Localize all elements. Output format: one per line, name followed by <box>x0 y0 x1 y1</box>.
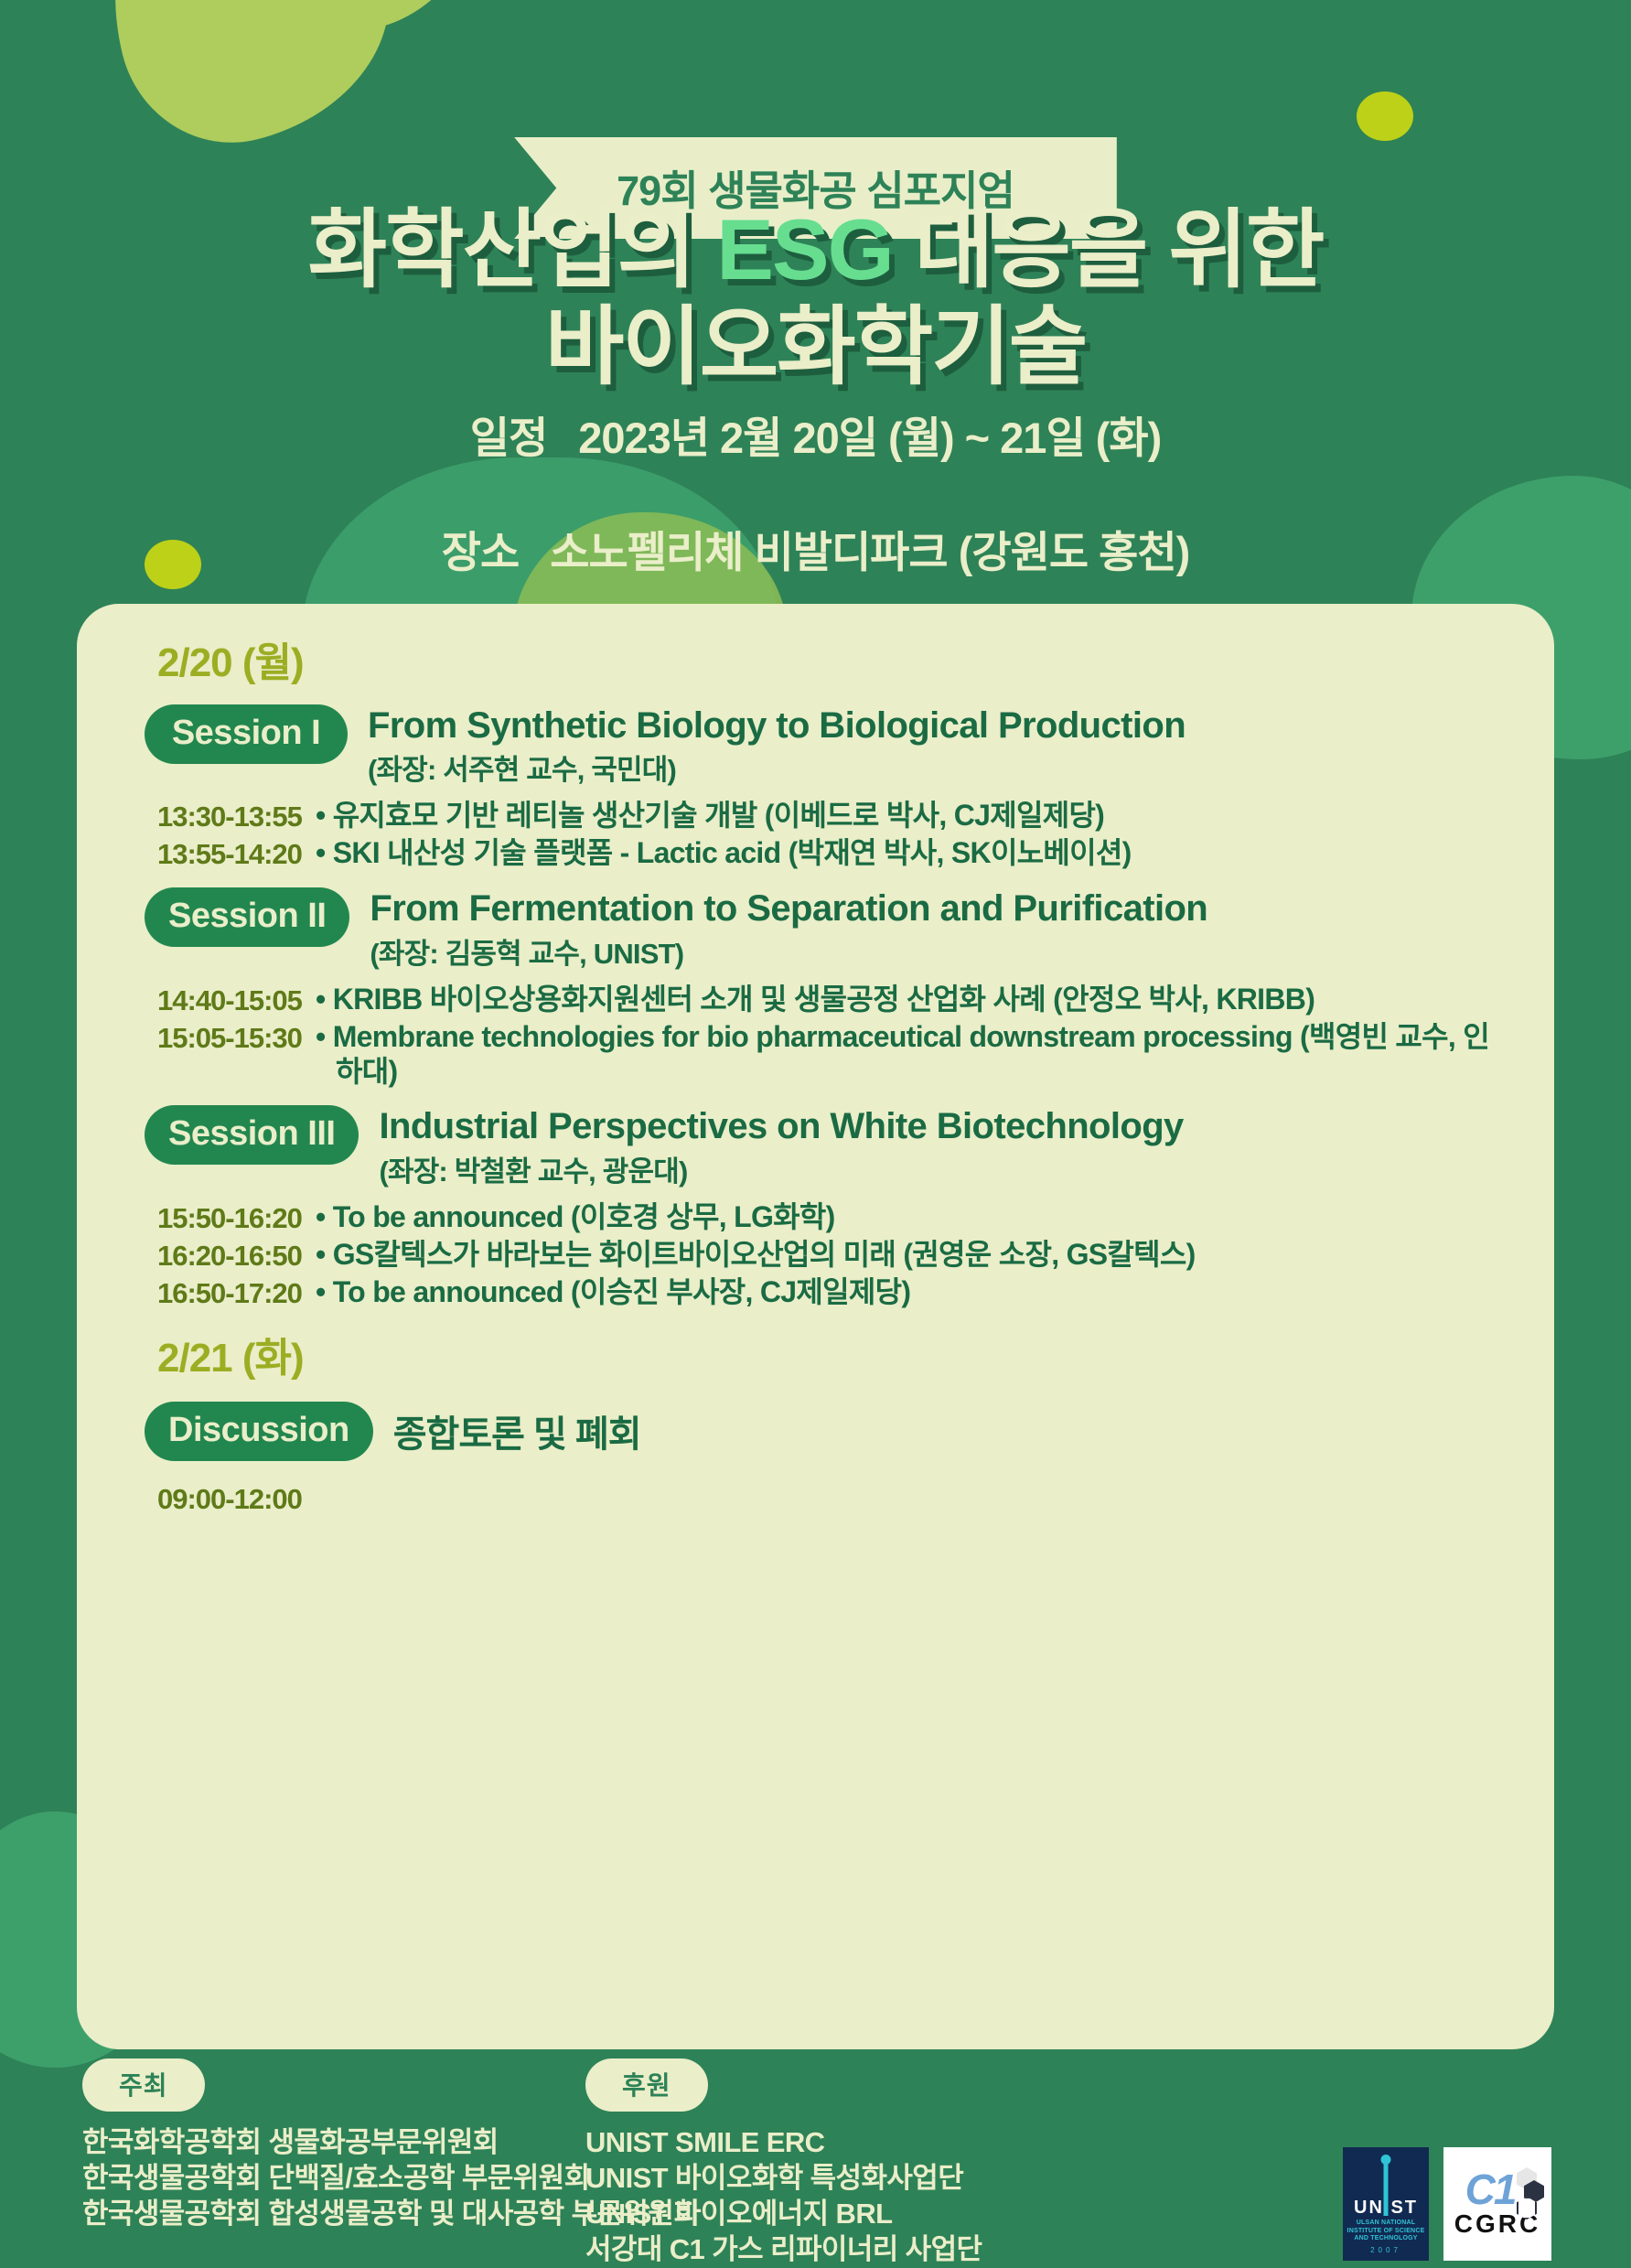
event-venue-row: 장소소노펠리체 비발디파크 (강원도 홍천) <box>0 517 1631 580</box>
title-line-1-pre: 화학산업의 <box>308 201 717 297</box>
talk-time: 15:05-15:30 <box>119 1020 316 1055</box>
session-talks-2: 14:40-15:05 • KRIBB 바이오상용화지원센터 소개 및 생물공정… <box>119 983 1512 1090</box>
talk-row: 13:30-13:55 • 유지효모 기반 레티놀 생산기술 개발 (이베드로 … <box>119 799 1512 833</box>
session-titles-1: From Synthetic Biology to Biological Pro… <box>368 704 1186 788</box>
session-block-1: Session I From Synthetic Biology to Biol… <box>119 704 1512 788</box>
day-heading-2: 2/21 (화) <box>157 1325 1512 1383</box>
session-talks-3: 15:50-16:20 • To be announced (이호경 상무, L… <box>119 1200 1512 1310</box>
session-title-1: From Synthetic Biology to Biological Pro… <box>368 706 1186 745</box>
session-chair-1: (좌장: 서주현 교수, 국민대) <box>368 747 1186 788</box>
c1-mark: C1 <box>1465 2171 1516 2209</box>
talk-row: 15:05-15:30 • Membrane technologies for … <box>119 1020 1512 1090</box>
talk-row: 15:50-16:20 • To be announced (이호경 상무, L… <box>119 1200 1512 1235</box>
event-date-row: 일정2023년 2월 20일 (월) ~ 21일 (화) <box>0 403 1631 466</box>
session-titles-3: Industrial Perspectives on White Biotech… <box>379 1105 1183 1188</box>
talk-row: 13:55-14:20 • SKI 내산성 기술 플랫폼 - Lactic ac… <box>119 836 1512 871</box>
session-block-3: Session III Industrial Perspectives on W… <box>119 1105 1512 1188</box>
discussion-time: 09:00-12:00 <box>119 1483 1512 1516</box>
title-line-1-post: 대응을 위한 <box>893 201 1324 297</box>
session-pill-1: Session I <box>145 704 348 764</box>
session-chair-2: (좌장: 김동혁 교수, UNIST) <box>370 930 1207 972</box>
session-talks-1: 13:30-13:55 • 유지효모 기반 레티놀 생산기술 개발 (이베드로 … <box>119 799 1512 871</box>
event-date-label: 일정 <box>470 414 547 462</box>
event-venue-label: 장소 <box>442 528 519 576</box>
talk-text: • To be announced (이호경 상무, LG화학) <box>316 1200 835 1235</box>
talk-time: 16:20-16:50 <box>119 1238 316 1273</box>
talk-row: 16:50-17:20 • To be announced (이승진 부사장, … <box>119 1275 1512 1310</box>
sponsor-tag-badge: 후원 <box>585 2058 708 2112</box>
talk-text: • Membrane technologies for bio pharmace… <box>316 1020 1512 1090</box>
talk-text: • SKI 내산성 기술 플랫폼 - Lactic acid (박재연 박사, … <box>316 836 1132 871</box>
page-title: 화학산업의 ESG 대응을 위한 바이오화학기술 <box>0 206 1631 391</box>
talk-text: • To be announced (이승진 부사장, CJ제일제당) <box>316 1275 910 1310</box>
event-meta: 일정2023년 2월 20일 (월) ~ 21일 (화) 장소소노펠리체 비발디… <box>0 403 1631 580</box>
talk-time: 15:50-16:20 <box>119 1200 316 1235</box>
talk-row: 14:40-15:05 • KRIBB 바이오상용화지원센터 소개 및 생물공정… <box>119 983 1512 1017</box>
day-heading-1: 2/20 (월) <box>157 629 1512 688</box>
session-chair-3: (좌장: 박철환 교수, 광운대) <box>379 1148 1183 1189</box>
sponsor-column: 후원 UNIST SMILE ERC UNIST 바이오화학 특성화사업단 UN… <box>585 2058 982 2267</box>
title-esg-highlight: ESG <box>716 201 893 297</box>
host-tag-badge: 주최 <box>82 2058 205 2112</box>
unist-subtitle: ULSAN NATIONAL INSTITUTE OF SCIENCE AND … <box>1343 2220 1429 2243</box>
talk-time: 14:40-15:05 <box>119 983 316 1017</box>
unist-year: 2007 <box>1370 2246 1401 2254</box>
title-line-1: 화학산업의 ESG 대응을 위한 <box>0 206 1631 294</box>
sponsor-line: UNIST 바이오화학 특성화사업단 <box>585 2160 982 2196</box>
talk-text: • GS칼텍스가 바라보는 화이트바이오산업의 미래 (권영운 소장, GS칼텍… <box>316 1238 1196 1273</box>
talk-time: 13:55-14:20 <box>119 836 316 871</box>
session-pill-2: Session II <box>145 887 349 947</box>
discussion-block: Discussion 종합토론 및 폐회 <box>119 1402 1512 1461</box>
unist-beam-icon <box>1384 2159 1389 2216</box>
unist-logo-icon: UNIST ULSAN NATIONAL INSTITUTE OF SCIENC… <box>1343 2147 1429 2261</box>
dot-top-right-icon <box>1357 91 1413 141</box>
session-title-3: Industrial Perspectives on White Biotech… <box>379 1107 1183 1145</box>
c1-cgrc-logo-icon: C1 CGRC <box>1443 2147 1551 2261</box>
program-card: 2/20 (월) Session I From Synthetic Biolog… <box>77 604 1554 2049</box>
talk-row: 16:20-16:50 • GS칼텍스가 바라보는 화이트바이오산업의 미래 (… <box>119 1238 1512 1273</box>
sponsor-line: 서강대 C1 가스 리파이너리 사업단 <box>585 2231 982 2267</box>
talk-time: 13:30-13:55 <box>119 799 316 833</box>
session-block-2: Session II From Fermentation to Separati… <box>119 887 1512 971</box>
sponsor-line: UNIST 바이오에너지 BRL <box>585 2196 982 2231</box>
talk-text: • KRIBB 바이오상용화지원센터 소개 및 생물공정 산업화 사례 (안정오… <box>316 983 1314 1017</box>
sponsor-line: UNIST SMILE ERC <box>585 2124 982 2160</box>
sponsor-logos: UNIST ULSAN NATIONAL INSTITUTE OF SCIENC… <box>1343 2147 1551 2261</box>
session-pill-3: Session III <box>145 1105 359 1165</box>
talk-text: • 유지효모 기반 레티놀 생산기술 개발 (이베드로 박사, CJ제일제당) <box>316 799 1104 833</box>
title-line-2: 바이오화학기술 <box>0 303 1631 391</box>
session-title-2: From Fermentation to Separation and Puri… <box>370 889 1207 928</box>
discussion-pill: Discussion <box>145 1402 373 1461</box>
discussion-text: 종합토론 및 폐회 <box>393 1404 641 1457</box>
talk-time: 16:50-17:20 <box>119 1275 316 1310</box>
session-titles-2: From Fermentation to Separation and Puri… <box>370 887 1207 971</box>
event-date-value: 2023년 2월 20일 (월) ~ 21일 (화) <box>578 414 1161 462</box>
event-venue-value: 소노펠리체 비발디파크 (강원도 홍천) <box>550 528 1189 576</box>
